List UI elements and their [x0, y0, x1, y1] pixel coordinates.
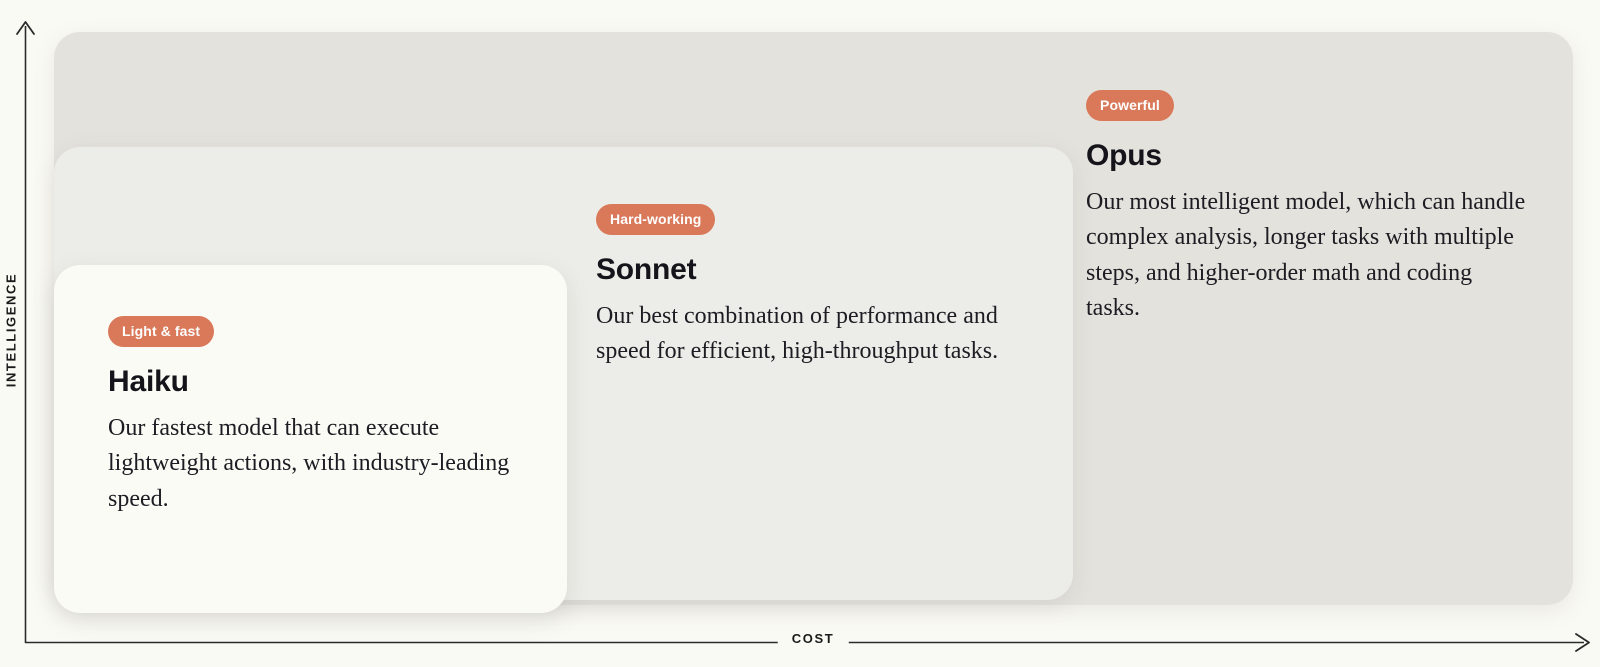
y-axis-arrowhead-icon [17, 22, 34, 34]
model-card-sonnet-content: Hard-working Sonnet Our best combination… [596, 204, 1036, 370]
model-title-opus: Opus [1086, 139, 1526, 172]
model-title-haiku: Haiku [108, 365, 528, 398]
badge-hard-working: Hard-working [596, 204, 715, 235]
model-card-opus-content: Powerful Opus Our most intelligent model… [1086, 90, 1526, 326]
badge-light-and-fast: Light & fast [108, 316, 214, 347]
badge-powerful: Powerful [1086, 90, 1174, 121]
y-axis-label: INTELLIGENCE [4, 273, 19, 388]
model-description-sonnet: Our best combination of performance and … [596, 299, 1036, 370]
model-card-haiku[interactable]: Light & fast Haiku Our fastest model tha… [54, 265, 567, 613]
model-description-haiku: Our fastest model that can execute light… [108, 411, 528, 517]
model-title-sonnet: Sonnet [596, 253, 1036, 286]
x-axis-arrowhead-icon [1576, 634, 1589, 651]
model-card-haiku-content: Light & fast Haiku Our fastest model tha… [108, 316, 528, 517]
x-axis-label: COST [778, 631, 849, 646]
model-description-opus: Our most intelligent model, which can ha… [1086, 185, 1526, 326]
